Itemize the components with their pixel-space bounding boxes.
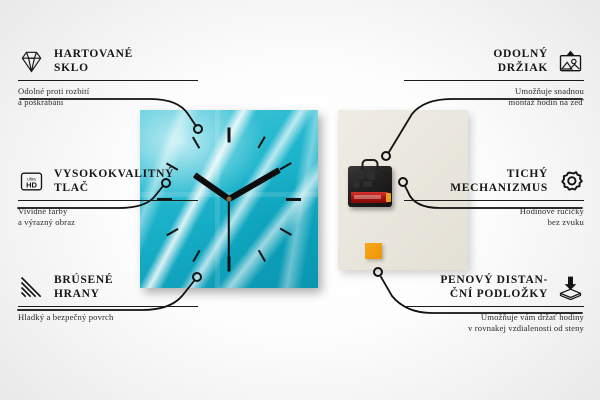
feature-subtitle-line1: Odolné proti rozbití [18, 86, 198, 97]
feature-ground-edges: BRÚSENÉ HRANY Hladký a bezpečný povrch [18, 274, 198, 323]
clock-hub [227, 197, 232, 202]
svg-text:HD: HD [26, 180, 37, 189]
divider [404, 80, 584, 81]
feature-silent-mechanism: TICHÝ MECHANIZMUS Hodinové ručičky bez z… [404, 168, 584, 227]
divider [404, 200, 584, 201]
feature-title-line2: MECHANIZMUS [450, 182, 548, 196]
feature-title-line1: VYSOKOKVALITNÝ [54, 168, 174, 182]
feature-subtitle-line1: Hodinové ručičky [404, 206, 584, 217]
feature-titles: TICHÝ MECHANIZMUS [450, 168, 548, 195]
feature-title-line1: BRÚSENÉ [54, 274, 113, 288]
feature-header: ultra HD VYSOKOKVALITNÝ TLAČ [18, 168, 198, 195]
picture-hanger-icon [557, 49, 584, 74]
feature-title-line1: TICHÝ [507, 168, 548, 182]
feature-header: HARTOVANÉ SKLO [18, 48, 198, 75]
divider [18, 306, 198, 307]
product-infographic: HARTOVANÉ SKLO Odolné proti rozbití a po… [0, 0, 600, 400]
feature-header: ODOLNÝ DRŽIAK [404, 48, 584, 75]
feature-durable-holder: ODOLNÝ DRŽIAK Umožňuje snadnou montáž ho… [404, 48, 584, 107]
wire-endpoint-left-1 [194, 125, 202, 133]
feature-title-line2: HRANY [54, 288, 113, 302]
feature-titles: BRÚSENÉ HRANY [54, 274, 113, 301]
feature-subtitle-line2: a poškrábání [18, 97, 198, 108]
feature-subtitle-line2: v rovnakej vzdialenosti od steny [404, 323, 584, 334]
feature-subtitle-line1: Vividné farby [18, 206, 198, 217]
feature-titles: HARTOVANÉ SKLO [54, 48, 133, 75]
second-hand [228, 199, 230, 263]
feature-title-line1: ODOLNÝ [493, 48, 548, 62]
feature-foam-spacers: PENOVÝ DISTAN- ČNÍ PODLOŽKY Umožňuje vám… [404, 274, 584, 333]
feature-tempered-glass: HARTOVANÉ SKLO Odolné proti rozbití a po… [18, 48, 198, 107]
gear-icon [557, 169, 584, 194]
feature-subtitle-line2: a výrazný obraz [18, 217, 198, 228]
feature-subtitle-line1: Hladký a bezpečný povrch [18, 312, 198, 323]
feature-subtitle-line1: Umožňuje snadnou [404, 86, 584, 97]
feature-title-line2: TLAČ [54, 182, 174, 196]
feature-subtitle-line2: montáž hodin na zeď [404, 97, 584, 108]
feature-title-line2: ČNÍ PODLOŽKY [450, 288, 548, 302]
feature-titles: ODOLNÝ DRŽIAK [493, 48, 548, 75]
feature-title-line1: HARTOVANÉ [54, 48, 133, 62]
feature-titles: VYSOKOKVALITNÝ TLAČ [54, 168, 174, 195]
brushed-edges-icon [18, 275, 45, 300]
feature-high-quality-print: ultra HD VYSOKOKVALITNÝ TLAČ Vividné far… [18, 168, 198, 227]
feature-header: PENOVÝ DISTAN- ČNÍ PODLOŽKY [404, 274, 584, 301]
divider [18, 200, 198, 201]
divider [404, 306, 584, 307]
divider [18, 80, 198, 81]
feature-title-line1: PENOVÝ DISTAN- [440, 274, 548, 288]
wire-endpoint-right-3 [374, 268, 382, 276]
foam-pad-arrow-icon [557, 275, 584, 300]
feature-header: TICHÝ MECHANIZMUS [404, 168, 584, 195]
feature-subtitle-line1: Umožňuje vám držať hodiny [404, 312, 584, 323]
feature-titles: PENOVÝ DISTAN- ČNÍ PODLOŽKY [440, 274, 548, 301]
diamond-icon [18, 49, 45, 74]
feature-title-line2: SKLO [54, 62, 133, 76]
ultra-hd-badge-icon: ultra HD [18, 169, 45, 194]
feature-header: BRÚSENÉ HRANY [18, 274, 198, 301]
wire-endpoint-right-1 [382, 152, 390, 160]
feature-subtitle-line2: bez zvuku [404, 217, 584, 228]
feature-title-line2: DRŽIAK [498, 62, 548, 76]
